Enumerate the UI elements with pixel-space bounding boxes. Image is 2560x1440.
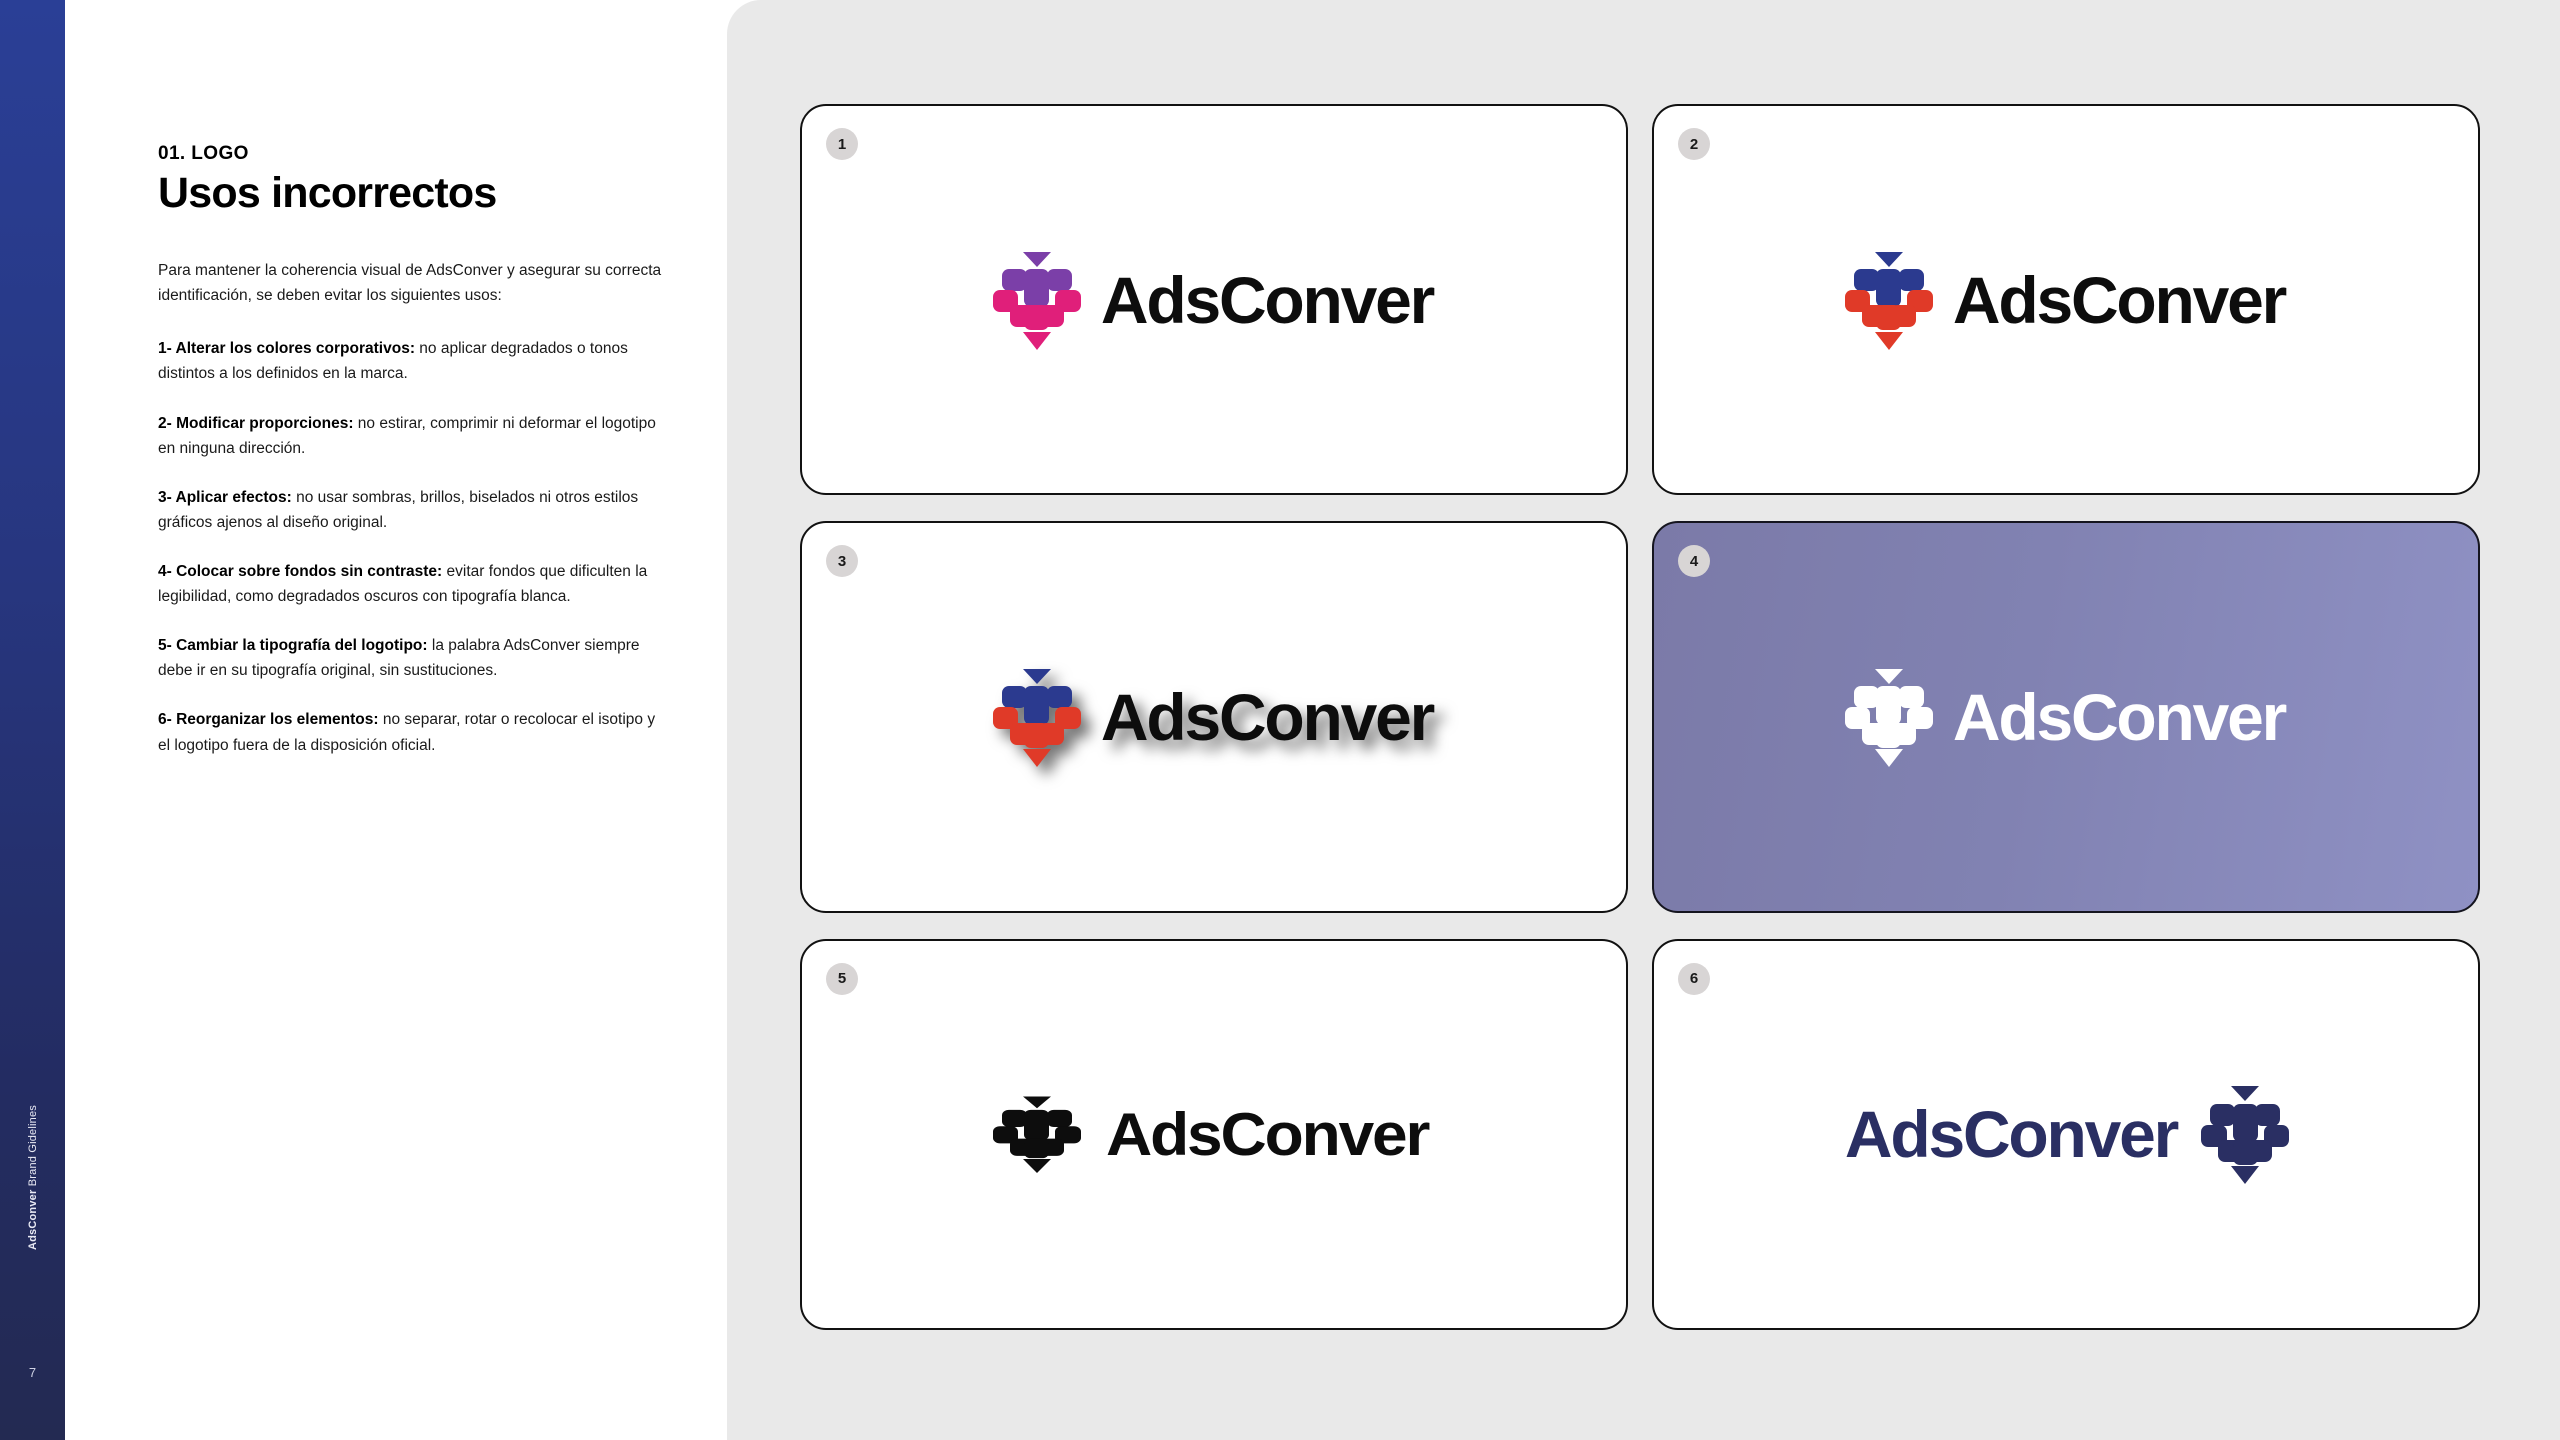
rule-item-2: 2- Modificar proporciones: no estirar, c… [158,411,663,461]
rule-lead-3: 3- Aplicar efectos: [158,489,292,506]
adsconver-isotype-icon [995,669,1079,765]
logo-wordmark-2: AdsConver [1953,267,2285,333]
adsconver-isotype-icon [1847,669,1931,765]
adsconver-isotype-icon [995,1097,1079,1172]
example-badge-6: 6 [1678,963,1710,995]
logo-wordmark-6: AdsConver [1845,1101,2177,1167]
page-title: Usos incorrectos [158,171,663,216]
logo-wordmark-5: AdsConver [1106,1104,1428,1165]
rule-item-3: 3- Aplicar efectos: no usar sombras, bri… [158,485,663,535]
rule-lead-1: 1- Alterar los colores corporativos: [158,340,415,357]
example-badge-2: 2 [1678,128,1710,160]
example-card-4[interactable]: 4AdsConver [1652,521,2480,912]
example-card-3[interactable]: 3AdsConver [800,521,1628,912]
rule-item-5: 5- Cambiar la tipografía del logotipo: l… [158,633,663,683]
logo-wordmark-4: AdsConver [1953,684,2285,750]
adsconver-isotype-icon [1847,252,1931,348]
page-number: 7 [0,1365,65,1380]
sidebar-rail: AdsConver Brand Gidelines 7 [0,0,65,1440]
example-card-2[interactable]: 2AdsConver [1652,104,2480,495]
rules-list: 1- Alterar los colores corporativos: no … [158,336,663,757]
content-column: 01. LOGO Usos incorrectos Para mantener … [158,143,663,782]
rule-lead-2: 2- Modificar proporciones: [158,415,354,432]
rule-item-4: 4- Colocar sobre fondos sin contraste: e… [158,559,663,609]
logo-lockup-1: AdsConver [995,252,1433,348]
example-card-1[interactable]: 1AdsConver [800,104,1628,495]
logo-wordmark-1: AdsConver [1101,267,1433,333]
intro-paragraph: Para mantener la coherencia visual de Ad… [158,258,663,308]
sidebar-brand-suffix: Brand Gidelines [27,1105,39,1190]
logo-lockup-3: AdsConver [995,669,1433,765]
logo-lockup-2: AdsConver [1847,252,2285,348]
section-eyebrow: 01. LOGO [158,143,663,165]
rule-lead-5: 5- Cambiar la tipografía del logotipo: [158,637,428,654]
rule-item-6: 6- Reorganizar los elementos: no separar… [158,707,663,757]
example-card-6[interactable]: 6AdsConver [1652,939,2480,1330]
logo-lockup-4: AdsConver [1847,669,2285,765]
example-badge-3: 3 [826,545,858,577]
example-badge-1: 1 [826,128,858,160]
logo-wordmark-3: AdsConver [1101,684,1433,750]
logo-lockup-6: AdsConver [1845,1086,2287,1182]
logo-lockup-5: AdsConver [995,1086,1433,1182]
example-badge-4: 4 [1678,545,1710,577]
rule-item-1: 1- Alterar los colores corporativos: no … [158,336,663,386]
sidebar-brand-label: AdsConver Brand Gidelines [27,1105,39,1250]
adsconver-isotype-icon [995,252,1079,348]
sidebar-brand-name: AdsConver [27,1190,39,1250]
rule-lead-6: 6- Reorganizar los elementos: [158,711,379,728]
example-card-5[interactable]: 5AdsConver [800,939,1628,1330]
adsconver-isotype-icon [2203,1086,2287,1182]
examples-grid: 1AdsConver2AdsConver3AdsConver4AdsConver… [800,104,2480,1330]
rule-lead-4: 4- Colocar sobre fondos sin contraste: [158,563,442,580]
example-badge-5: 5 [826,963,858,995]
